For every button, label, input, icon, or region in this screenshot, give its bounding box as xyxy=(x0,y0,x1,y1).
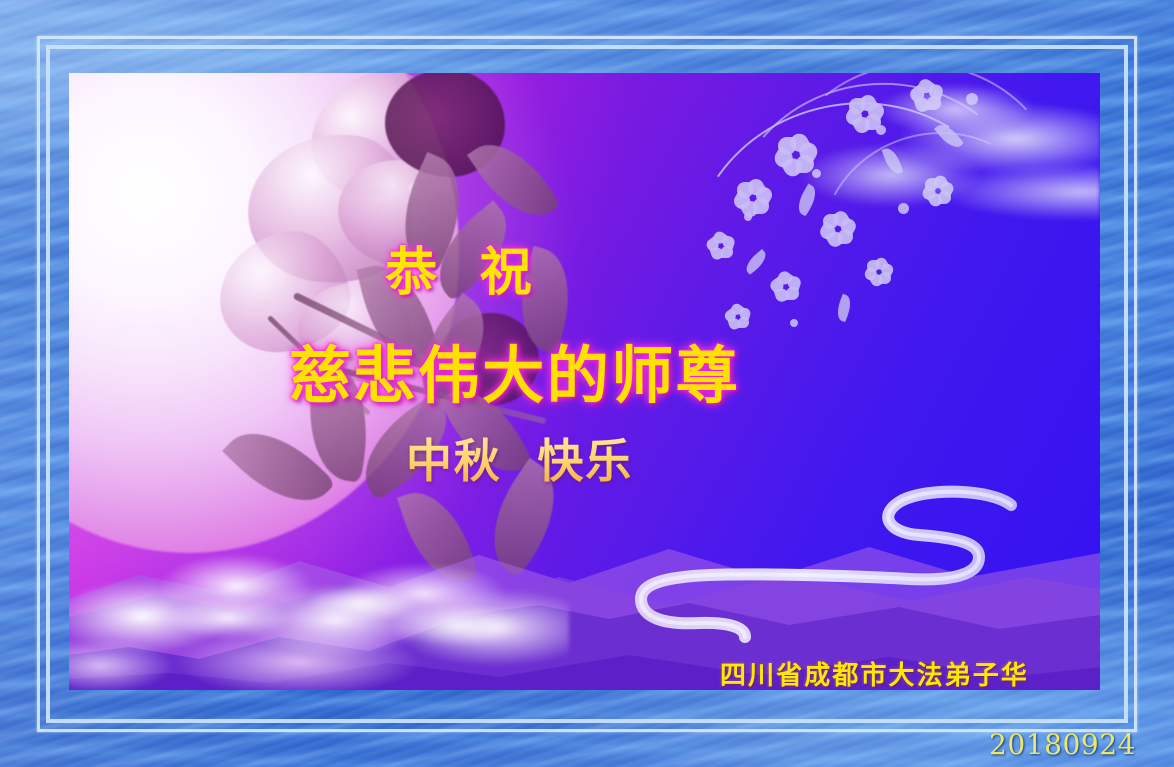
greeting-line-main: 慈悲伟大的师尊 xyxy=(69,325,1100,415)
signature-line: 四川省成都市大法弟子华 xyxy=(69,655,1100,690)
date-stamp: 20180924 xyxy=(989,728,1136,761)
auspicious-stream-ribbon xyxy=(559,483,1029,673)
blossom-icon xyxy=(736,181,770,215)
greeting-card-image: 恭 祝 慈悲伟大的师尊 中秋 快乐 四川省成都市大法弟子华 叩 拜 201809… xyxy=(0,0,1174,767)
blossom-icon xyxy=(776,135,816,175)
blossom-icon xyxy=(924,177,952,205)
card-artwork-panel: 恭 祝 慈悲伟大的师尊 中秋 快乐 四川省成都市大法弟子华 叩 拜 xyxy=(69,73,1100,690)
greeting-line-sub: 中秋 快乐 xyxy=(69,425,1100,491)
blossom-icon xyxy=(912,81,942,111)
greeting-line-top: 恭 祝 xyxy=(69,230,1100,305)
